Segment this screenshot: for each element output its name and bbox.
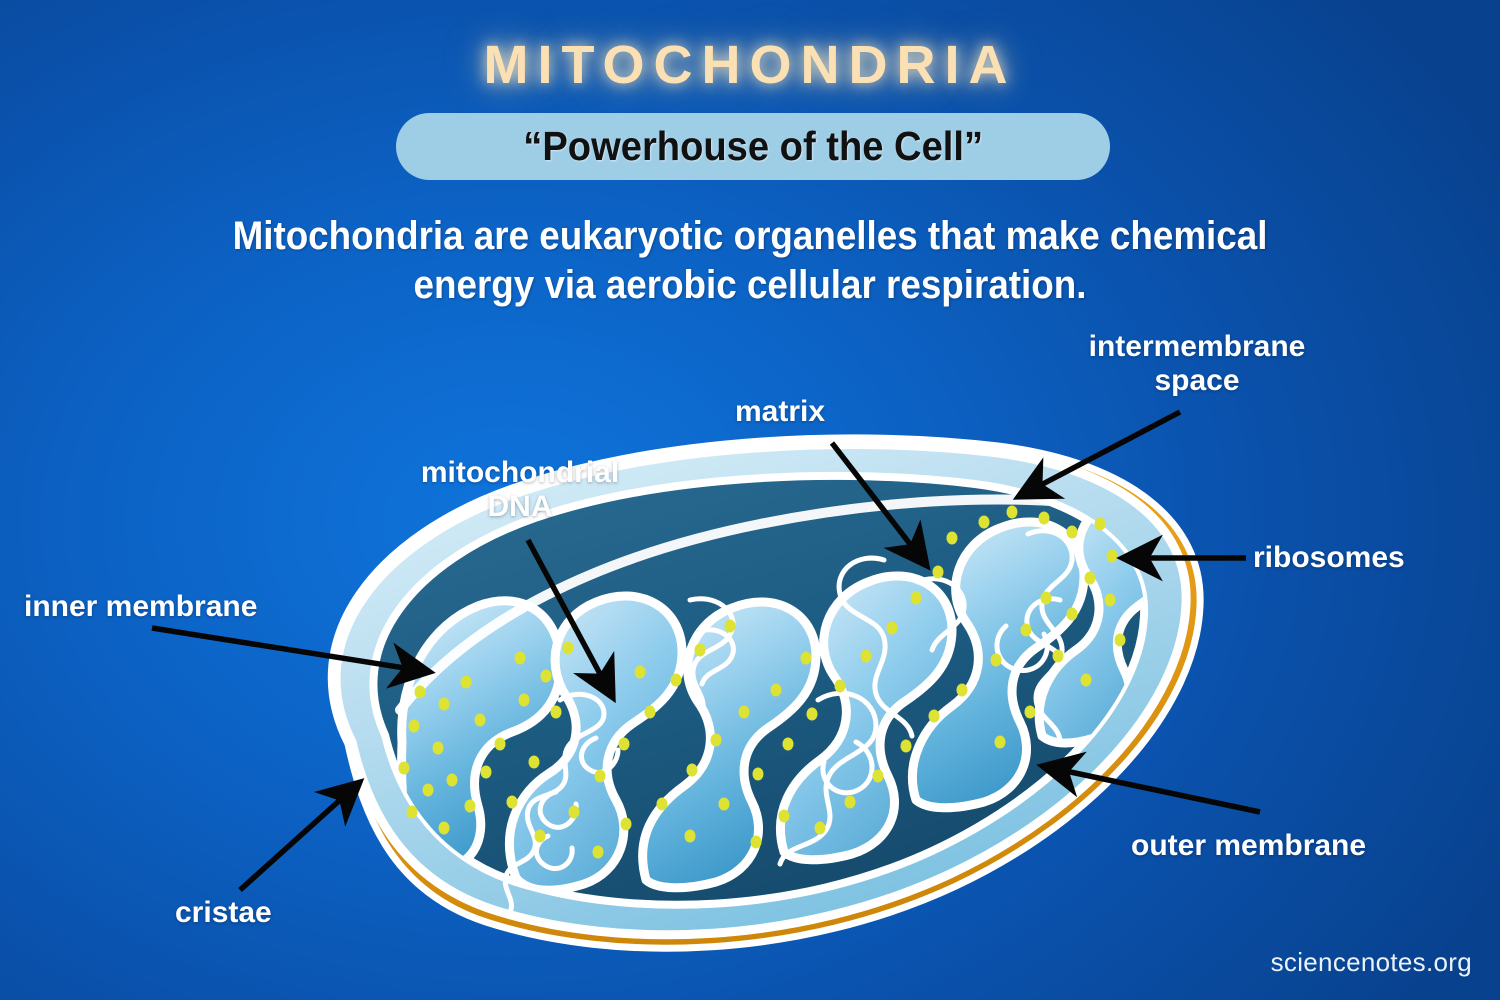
ribosome [771,684,782,697]
ribosome [947,532,958,545]
label-mitochondrial-dna-line-1: mitochondrial [421,456,619,489]
ribosome [1085,572,1096,585]
ribosome [1053,650,1064,663]
site-watermark: sciencenotes.org [1271,947,1472,978]
ribosome [535,830,546,843]
ribosome [687,764,698,777]
ribosome [645,706,656,719]
ribosome [439,822,450,835]
ribosome [719,798,730,811]
ribosome [751,836,762,849]
ribosome [957,684,968,697]
label-intermembrane-space: intermembrane space [1032,330,1362,398]
ribosome [1107,550,1118,563]
ribosome [783,738,794,751]
ribosome [815,822,826,835]
ribosome [1115,634,1126,647]
ribosome [439,698,450,711]
ribosome [933,566,944,579]
ribosome [529,756,540,769]
ribosome [685,830,696,843]
ribosome [551,706,562,719]
ribosome [739,706,750,719]
ribosome [911,592,922,605]
ribosome [475,714,486,727]
ribosome [495,738,506,751]
ribosome [1025,706,1036,719]
ribosome [619,738,630,751]
ribosome [929,710,940,723]
ribosome [433,742,444,755]
ribosome [913,540,924,553]
ribosome [1105,594,1116,607]
ribosome [725,620,736,633]
ribosome [563,642,574,655]
ribosome [519,694,530,707]
label-mitochondrial-dna-line-2: DNA [488,490,553,523]
ribosome [399,762,410,775]
ribosome [873,770,884,783]
ribosome [835,680,846,693]
ribosome [753,768,764,781]
ribosome [621,818,632,831]
label-inner-membrane: inner membrane [24,590,257,624]
label-matrix: matrix [735,395,825,429]
label-cristae: cristae [175,896,272,930]
label-intermembrane-space-line-2: space [1154,364,1239,397]
poster-canvas: MITOCHONDRIA “Powerhouse of the Cell” Mi… [0,0,1500,1000]
ribosome [541,670,552,683]
ribosome [415,686,426,699]
ribosome [671,674,682,687]
ribosome [779,810,790,823]
ribosome [447,774,458,787]
ribosome [461,676,472,689]
ribosome [1021,624,1032,637]
ribosome [1067,608,1078,621]
ribosome [635,666,646,679]
ribosome [409,720,420,733]
ribosome [979,516,990,529]
ribosome [1095,518,1106,531]
ribosome [901,740,912,753]
ribosome [515,652,526,665]
ribosome [1081,674,1092,687]
ribosome [991,654,1002,667]
ribosome [1041,592,1052,605]
ribosome [465,800,476,813]
ribosome [593,846,604,859]
label-outer-membrane: outer membrane [1131,829,1366,863]
ribosome [1131,554,1142,567]
ribosome [1067,526,1078,539]
ribosome [1039,512,1050,525]
ribosome [507,796,518,809]
ribosome [481,766,492,779]
ribosome [861,650,872,663]
ribosome [695,644,706,657]
ribosome [711,734,722,747]
ribosome [1007,506,1018,519]
ribosome [995,736,1006,749]
ribosome [807,708,818,721]
ribosome [423,784,434,797]
label-intermembrane-space-line-1: intermembrane [1089,330,1306,363]
label-ribosomes: ribosomes [1253,541,1405,575]
ribosome [657,798,668,811]
label-mitochondrial-dna: mitochondrial DNA [370,456,670,524]
ribosome [845,796,856,809]
ribosome [801,652,812,665]
ribosome [595,770,606,783]
ribosome [407,806,418,819]
ribosome [887,622,898,635]
ribosome [569,806,580,819]
